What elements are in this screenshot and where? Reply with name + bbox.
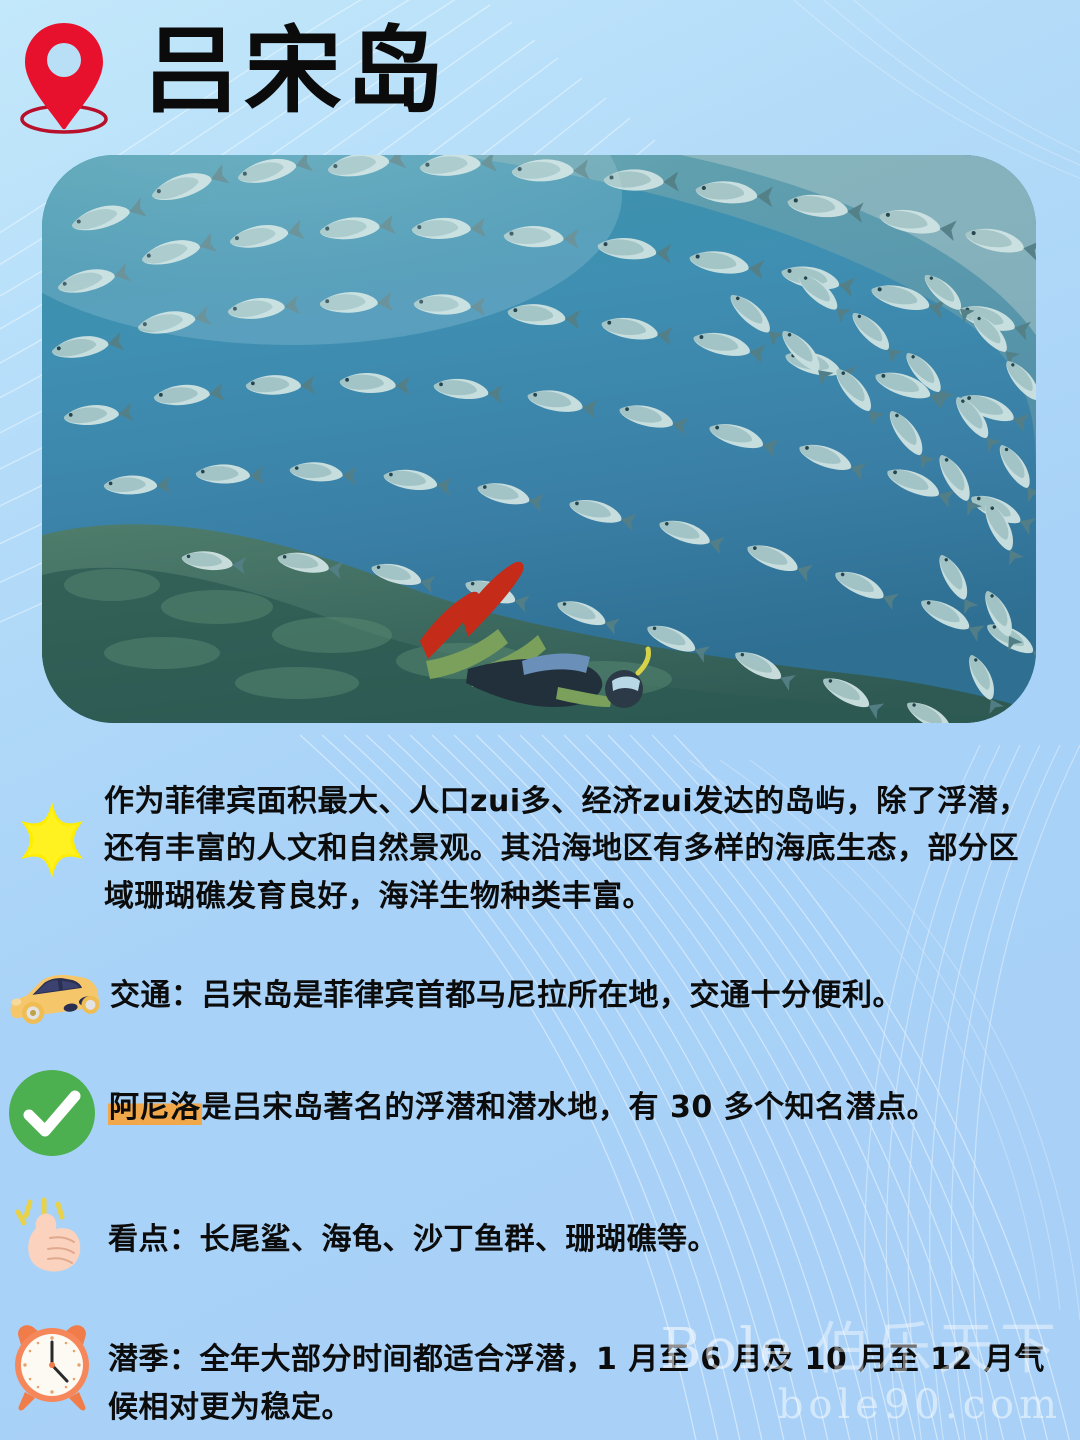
content-block-intro: 作为菲律宾面积最大、人口zui多、经济zui发达的岛屿，除了浮潜，还有丰富的人文… xyxy=(0,778,1080,920)
page-title: 吕宋岛 xyxy=(142,25,448,119)
car-icon xyxy=(0,962,106,1030)
highlights-text: 看点：长尾鲨、海龟、沙丁鱼群、珊瑚礁等。 xyxy=(104,1194,1080,1263)
transport-text: 交通：吕宋岛是菲律宾首都马尼拉所在地，交通十分便利。 xyxy=(106,962,1080,1019)
content-block-transport: 交通：吕宋岛是菲律宾首都马尼拉所在地，交通十分便利。 xyxy=(0,962,1080,1030)
map-pin-icon xyxy=(8,15,120,135)
dive-spot-text: 阿尼洛是吕宋岛著名的浮潜和潜水地，有 30 多个知名潜点。 xyxy=(104,1068,1080,1131)
snapping-fingers-icon xyxy=(0,1194,104,1286)
dive-spot-rest: 是吕宋岛著名的浮潜和潜水地，有 30 多个知名潜点。 xyxy=(202,1090,938,1125)
sparkle-star-icon xyxy=(0,778,104,894)
alarm-clock-icon xyxy=(0,1314,104,1412)
content-list: 作为菲律宾面积最大、人口zui多、经济zui发达的岛屿，除了浮潜，还有丰富的人文… xyxy=(0,760,1080,1431)
content-block-season: 潜季：全年大部分时间都适合浮潜，1 月至 6 月及 10 月至 12 月气候相对… xyxy=(0,1314,1080,1431)
hero-photo xyxy=(42,155,1036,723)
dive-spot-highlight: 阿尼洛 xyxy=(108,1090,202,1125)
page-header: 吕宋岛 xyxy=(0,0,1080,150)
content-block-dive-spot: 阿尼洛是吕宋岛著名的浮潜和潜水地，有 30 多个知名潜点。 xyxy=(0,1068,1080,1158)
green-check-icon xyxy=(0,1068,104,1158)
content-block-highlights: 看点：长尾鲨、海龟、沙丁鱼群、珊瑚礁等。 xyxy=(0,1194,1080,1286)
season-text: 潜季：全年大部分时间都适合浮潜，1 月至 6 月及 10 月至 12 月气候相对… xyxy=(104,1314,1080,1431)
intro-text: 作为菲律宾面积最大、人口zui多、经济zui发达的岛屿，除了浮潜，还有丰富的人文… xyxy=(104,778,1080,920)
